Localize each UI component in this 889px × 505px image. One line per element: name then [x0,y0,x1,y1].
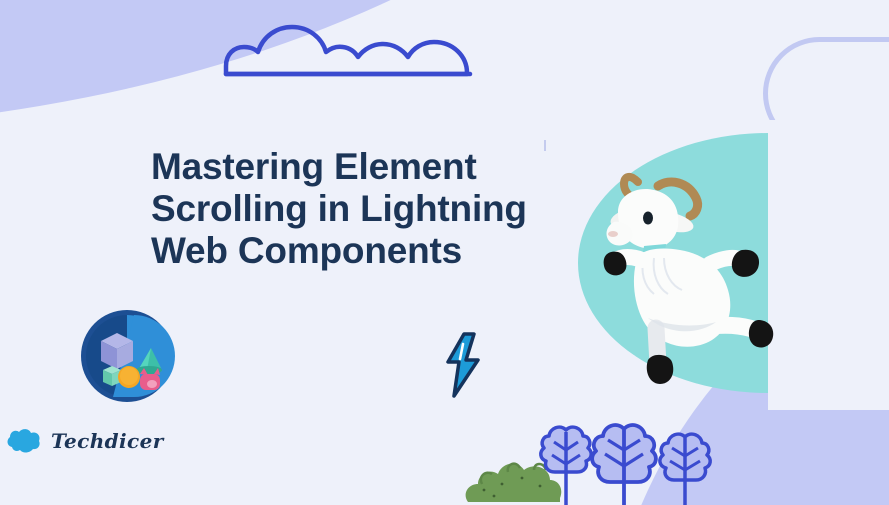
title-line-1: Mastering Element [151,146,621,188]
lightning-bolt-icon [442,332,484,398]
foliage-group [460,418,720,505]
cloud-outline-icon [222,22,482,83]
banner-canvas: Mastering Element Scrolling in Lightning… [0,0,889,505]
teal-circle-mask [768,120,889,410]
page-title: Mastering Element Scrolling in Lightning… [151,146,621,272]
cloud-logo-icon [6,428,42,454]
brand-logo[interactable]: Techdicer [6,428,164,454]
goat-illustration [600,160,775,390]
tree-icon [660,434,710,505]
brand-name: Techdicer [51,429,164,453]
decorative-tick-mark [544,140,546,151]
title-line-3: Web Components [151,230,621,272]
title-line-2: Scrolling in Lightning [151,188,621,230]
3d-shapes-badge-icon [79,308,175,404]
tree-icon [592,425,656,505]
